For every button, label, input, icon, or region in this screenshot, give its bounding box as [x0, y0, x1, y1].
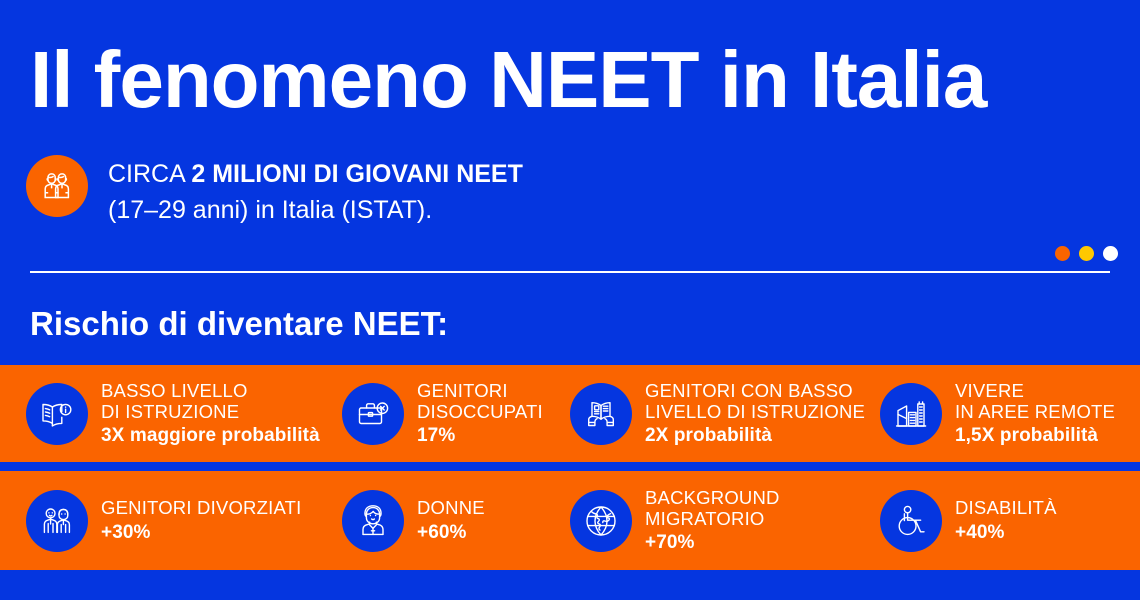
risk-card-value: +30%	[101, 522, 301, 544]
risk-card-label: MIGRATORIO	[645, 508, 780, 529]
risk-card-label: DISOCCUPATI	[417, 401, 543, 422]
book-info-icon	[26, 383, 88, 445]
dot-orange	[1055, 246, 1070, 261]
risk-card-value: 2X probabilità	[645, 425, 865, 447]
risk-card[interactable]: DONNE+60%	[342, 490, 485, 552]
risk-card-label: BACKGROUND	[645, 487, 780, 508]
dot-yellow	[1079, 246, 1094, 261]
dot-white	[1103, 246, 1118, 261]
subtitle-line2: (17–29 anni) in Italia (ISTAT).	[108, 193, 523, 229]
subtitle-prefix: CIRCA	[108, 160, 191, 188]
risk-card[interactable]: BASSO LIVELLODI ISTRUZIONE3X maggiore pr…	[26, 380, 320, 447]
wheelchair-icon	[880, 490, 942, 552]
risk-band-secondary: GENITORI DIVORZIATI+30% DONNE+60% BACKGR…	[0, 471, 1140, 570]
risk-card-body: BASSO LIVELLODI ISTRUZIONE3X maggiore pr…	[101, 380, 320, 447]
risk-card[interactable]: VIVEREIN AREE REMOTE1,5X probabilità	[880, 380, 1115, 447]
risk-card-body: VIVEREIN AREE REMOTE1,5X probabilità	[955, 380, 1115, 447]
risk-band-primary: BASSO LIVELLODI ISTRUZIONE3X maggiore pr…	[0, 365, 1140, 462]
section-title: Rischio di diventare NEET:	[30, 305, 448, 343]
two-people-icon	[26, 155, 88, 217]
risk-card-value: 3X maggiore probabilità	[101, 425, 320, 447]
risk-card-label: BASSO LIVELLO	[101, 380, 320, 401]
risk-card-label: DONNE	[417, 497, 485, 518]
dot-indicator-group	[1055, 246, 1118, 261]
risk-card-label: GENITORI CON BASSO	[645, 380, 865, 401]
risk-card-body: GENITORI CON BASSOLIVELLO DI ISTRUZIONE2…	[645, 380, 865, 447]
risk-card-label: DISABILITÀ	[955, 497, 1057, 518]
risk-card-label: VIVERE	[955, 380, 1115, 401]
risk-card-label: LIVELLO DI ISTRUZIONE	[645, 401, 865, 422]
risk-card-label: GENITORI	[417, 380, 543, 401]
risk-card-value: +40%	[955, 522, 1057, 544]
woman-icon	[342, 490, 404, 552]
risk-card-value: 1,5X probabilità	[955, 425, 1115, 447]
risk-card-body: DONNE+60%	[417, 497, 485, 543]
risk-card-label: IN AREE REMOTE	[955, 401, 1115, 422]
risk-card[interactable]: GENITORIDISOCCUPATI17%	[342, 380, 543, 447]
subtitle-text: CIRCA 2 MILIONI DI GIOVANI NEET (17–29 a…	[108, 155, 523, 228]
risk-card[interactable]: GENITORI CON BASSOLIVELLO DI ISTRUZIONE2…	[570, 380, 865, 447]
globe-icon	[570, 490, 632, 552]
page-title: Il fenomeno NEET in Italia	[30, 40, 986, 120]
header-divider	[30, 271, 1110, 273]
divorced-parents-icon	[26, 490, 88, 552]
risk-card-value: 17%	[417, 425, 543, 447]
risk-card[interactable]: GENITORI DIVORZIATI+30%	[26, 490, 301, 552]
risk-card-label: DI ISTRUZIONE	[101, 401, 320, 422]
subtitle-strong: 2 MILIONI DI GIOVANI NEET	[191, 160, 523, 188]
risk-card-body: GENITORIDISOCCUPATI17%	[417, 380, 543, 447]
risk-card-body: BACKGROUNDMIGRATORIO+70%	[645, 487, 780, 554]
risk-card-label: GENITORI DIVORZIATI	[101, 497, 301, 518]
risk-card-value: +60%	[417, 522, 485, 544]
risk-card-body: GENITORI DIVORZIATI+30%	[101, 497, 301, 543]
briefcase-x-icon	[342, 383, 404, 445]
hands-book-icon	[570, 383, 632, 445]
subtitle-block: CIRCA 2 MILIONI DI GIOVANI NEET (17–29 a…	[26, 155, 523, 228]
risk-card-value: +70%	[645, 532, 780, 554]
buildings-icon	[880, 383, 942, 445]
risk-card[interactable]: DISABILITÀ+40%	[880, 490, 1057, 552]
risk-card-body: DISABILITÀ+40%	[955, 497, 1057, 543]
risk-card[interactable]: BACKGROUNDMIGRATORIO+70%	[570, 487, 780, 554]
